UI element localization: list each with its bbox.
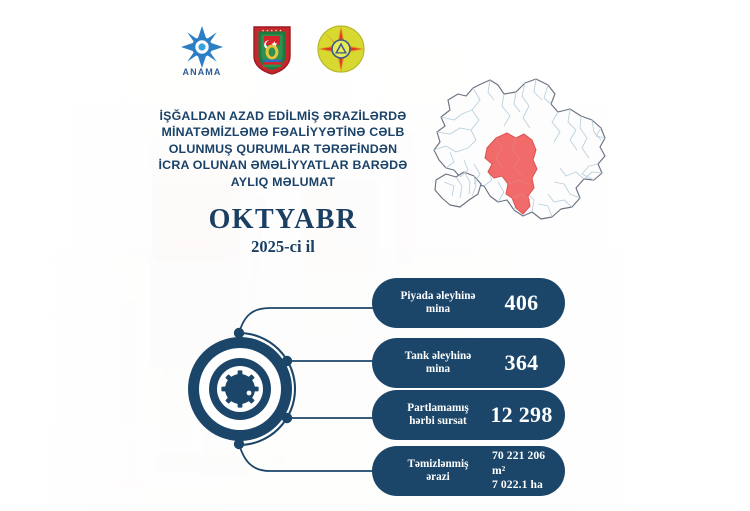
stat-label-line-2: ərazi	[426, 471, 450, 483]
infographic-poster: ANAMA ★ ★ ★ ★ ★	[0, 0, 750, 511]
anama-logo: ANAMA	[176, 24, 228, 83]
stat-label-line-2: hərbi sursat	[409, 415, 467, 427]
anama-logo-caption: ANAMA	[183, 67, 222, 77]
report-month: OKTYABR	[118, 204, 448, 236]
azerbaijan-map	[424, 76, 610, 236]
stat-card-value: 70 221 206 m² 7 022.1 ha	[490, 449, 553, 493]
stat-card-label: Partlamamış hərbi sursat	[386, 402, 490, 429]
organization-logos: ANAMA ★ ★ ★ ★ ★	[176, 24, 366, 80]
stat-card-value: 364	[490, 351, 553, 375]
stat-label-line-1: Piyada əleyhinə	[401, 290, 476, 302]
defence-ministry-emblem: ★ ★ ★ ★ ★	[251, 24, 293, 81]
emergency-situations-emblem	[316, 24, 366, 79]
mine-target-icon	[188, 337, 292, 441]
stat-card-label: Tank əleyhinə mina	[386, 350, 490, 377]
stat-label-line-1: Təmizlənmiş	[408, 458, 469, 470]
right-white-margin	[620, 0, 750, 511]
title-line-4: İCRA OLUNAN ƏMƏLİYYATLAR BARƏDƏ	[118, 157, 448, 173]
stat-card-value: 406	[490, 291, 553, 315]
svg-text:★ ★ ★ ★ ★: ★ ★ ★ ★ ★	[262, 28, 283, 32]
stat-card-unexploded-ordnance[interactable]: Partlamamış hərbi sursat 12 298	[372, 390, 565, 440]
poster-title-block: İŞĞALDAN AZAD EDİLMİŞ ƏRAZİLƏRDƏ MİNATƏM…	[118, 108, 448, 257]
stat-card-label: Təmizlənmiş ərazi	[386, 458, 490, 485]
report-year: 2025-ci il	[118, 237, 448, 257]
stat-label-line-1: Tank əleyhinə	[405, 350, 471, 362]
stat-card-antitank-mines[interactable]: Tank əleyhinə mina 364	[372, 338, 565, 388]
title-line-3: OLUNMUŞ QURUMLAR TƏRƏFİNDƏN	[118, 141, 448, 157]
stat-card-antipersonnel-mines[interactable]: Piyada əleyhinə mina 406	[372, 278, 565, 328]
stat-card-label: Piyada əleyhinə mina	[386, 290, 490, 317]
stat-value-line-2: 7 022.1 ha	[492, 478, 543, 491]
title-line-5: AYLIQ MƏLUMAT	[118, 174, 448, 190]
stat-value-line-1: 70 221 206 m²	[492, 449, 545, 477]
stat-label-line-1: Partlamamış	[407, 402, 469, 414]
stat-label-line-2: mina	[426, 363, 450, 375]
title-line-1: İŞĞALDAN AZAD EDİLMİŞ ƏRAZİLƏRDƏ	[118, 108, 448, 124]
stat-label-line-2: mina	[426, 303, 450, 315]
stat-card-value: 12 298	[490, 403, 553, 427]
stat-card-cleared-area[interactable]: Təmizlənmiş ərazi 70 221 206 m² 7 022.1 …	[372, 446, 565, 496]
title-line-2: MİNATƏMİZLƏMƏ FƏALİYYƏTİNƏ CƏLB	[118, 124, 448, 140]
